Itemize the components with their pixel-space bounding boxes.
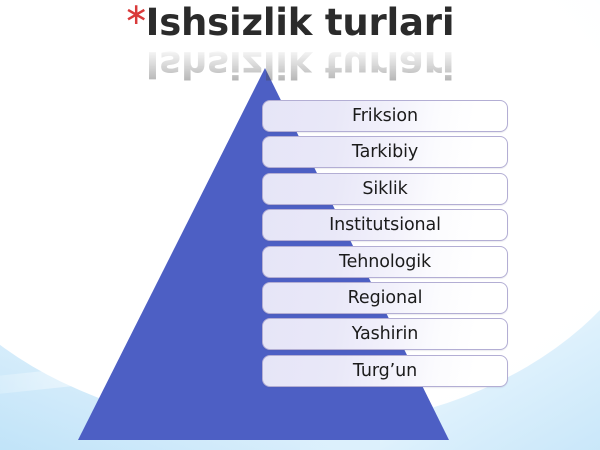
asterisk-icon: ∗ [124, 0, 149, 30]
list-item[interactable]: Institutsional [262, 209, 508, 241]
list-item[interactable]: Turg’un [262, 355, 508, 387]
list-item[interactable]: Friksion [262, 100, 508, 132]
list-item[interactable]: Regional [262, 282, 508, 314]
title-row: ∗ Ishsizlik turlari Ishsizlik turlari [146, 4, 455, 43]
slide-canvas: ∗ Ishsizlik turlari Ishsizlik turlari Fr… [0, 0, 600, 450]
page-title: Ishsizlik turlari [146, 4, 455, 43]
list-item[interactable]: Siklik [262, 173, 508, 205]
label-text: Friksion [352, 106, 418, 126]
label-text: Tehnologik [339, 252, 431, 272]
slide-title-block: ∗ Ishsizlik turlari Ishsizlik turlari [0, 4, 600, 43]
label-text: Institutsional [329, 215, 441, 235]
label-text: Yashirin [352, 324, 418, 344]
list-item[interactable]: Tehnologik [262, 246, 508, 278]
label-list: Friksion Tarkibiy Siklik Institutsional … [262, 100, 508, 387]
list-item[interactable]: Yashirin [262, 318, 508, 350]
list-item[interactable]: Tarkibiy [262, 136, 508, 168]
label-text: Tarkibiy [352, 142, 418, 162]
label-text: Regional [348, 288, 423, 308]
label-text: Siklik [362, 179, 407, 199]
label-text: Turg’un [353, 361, 417, 381]
